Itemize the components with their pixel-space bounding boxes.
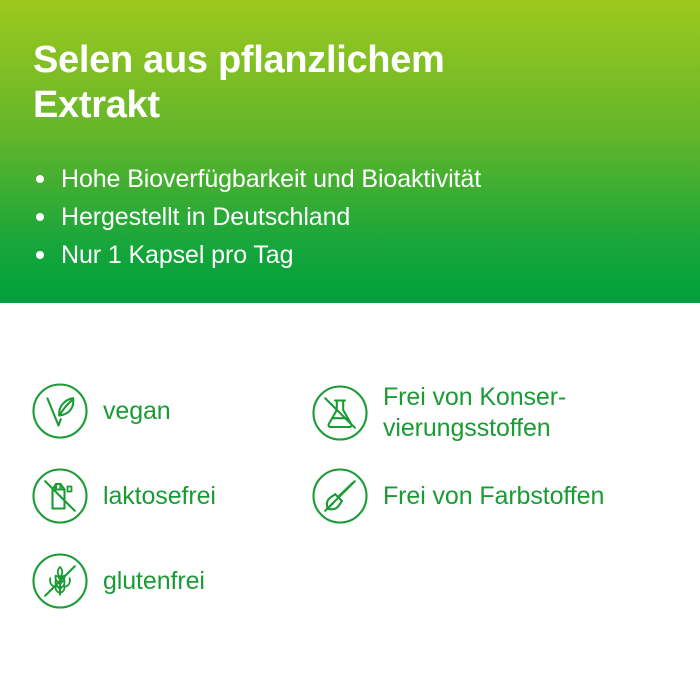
benefit-text: Hergestellt in Deutschland [61,203,350,231]
feature-icon-grid: vegan laktosefrei [0,303,700,700]
feature-gluten-free: glutenfrei [31,552,205,610]
feature-label: glutenfrei [103,566,205,597]
benefit-text: Nur 1 Kapsel pro Tag [61,241,293,269]
bullet-dot-icon [36,213,44,221]
list-item: Hohe Bioverfügbarkeit und Bioaktivität [33,160,673,198]
list-item: Hergestellt in Deutschland [33,198,673,236]
paintbrush-crossed-icon [311,467,369,525]
feature-label: Frei von Konser- vierungsstoffen [383,382,566,444]
feature-label: Frei von Farbstoffen [383,481,604,512]
feature-label: laktosefrei [103,481,216,512]
leaf-vegan-icon [31,382,89,440]
feature-vegan: vegan [31,382,171,440]
feature-preservative-free: Frei von Konser- vierungsstoffen [311,382,566,444]
bullet-dot-icon [36,251,44,259]
feature-colorant-free: Frei von Farbstoffen [311,467,604,525]
page-title: Selen aus pflanzlichem Extrakt [33,38,653,128]
list-item: Nur 1 Kapsel pro Tag [33,236,673,274]
benefit-list: Hohe Bioverfügbarkeit und Bioaktivität H… [33,160,673,274]
hero-banner: Selen aus pflanzlichem Extrakt Hohe Biov… [0,0,700,303]
feature-lactose-free: laktosefrei [31,467,216,525]
bullet-dot-icon [36,175,44,183]
feature-label: vegan [103,396,171,427]
wheat-crossed-icon [31,552,89,610]
milk-carton-crossed-icon [31,467,89,525]
product-info-banner: Selen aus pflanzlichem Extrakt Hohe Biov… [0,0,700,700]
benefit-text: Hohe Bioverfügbarkeit und Bioaktivität [61,165,481,193]
flask-crossed-icon [311,384,369,442]
